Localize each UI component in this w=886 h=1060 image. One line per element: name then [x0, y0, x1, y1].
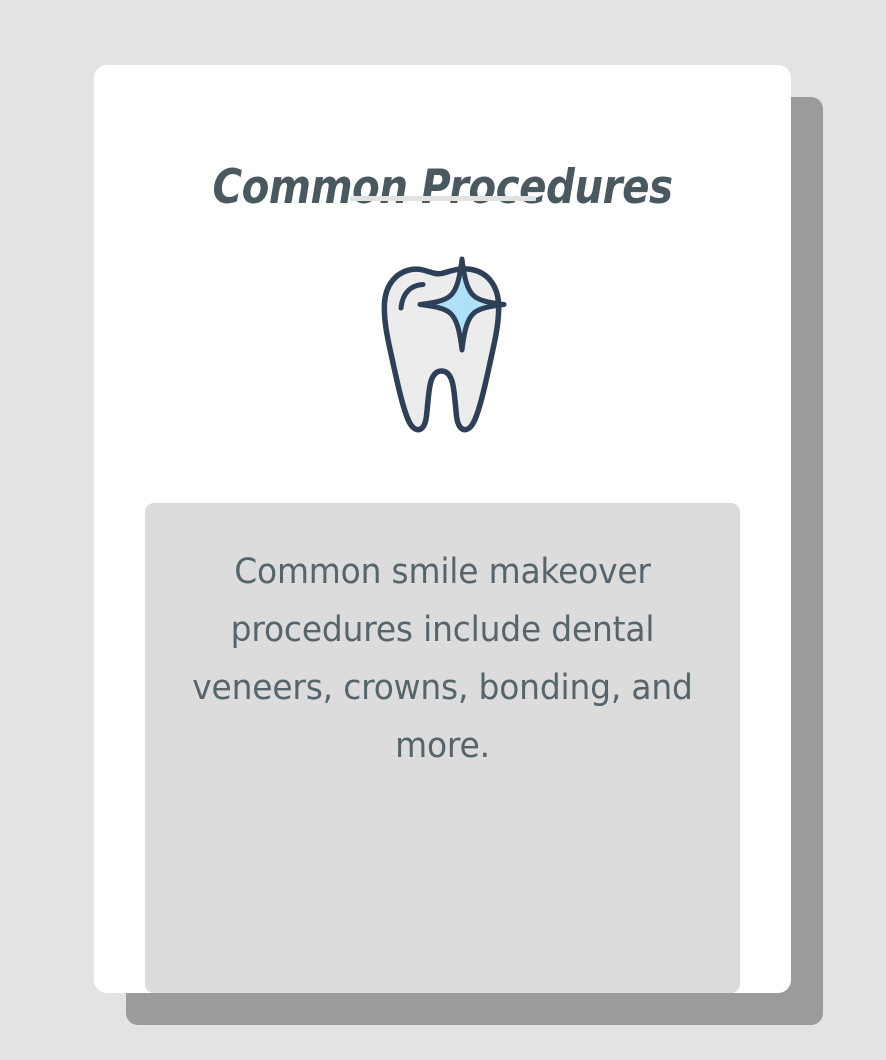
page-title: Common Procedures: [143, 164, 742, 211]
title-divider: [350, 196, 536, 201]
tooth-shape: [384, 269, 498, 430]
procedures-card[interactable]: Common Procedures Common smile makeover …: [94, 65, 791, 993]
sparkling-tooth-icon: [373, 252, 513, 442]
description-text: Common smile makeover procedures include…: [191, 543, 694, 775]
description-panel: Common smile makeover procedures include…: [145, 503, 740, 993]
slide-canvas: Common Procedures Common smile makeover …: [0, 0, 886, 1060]
